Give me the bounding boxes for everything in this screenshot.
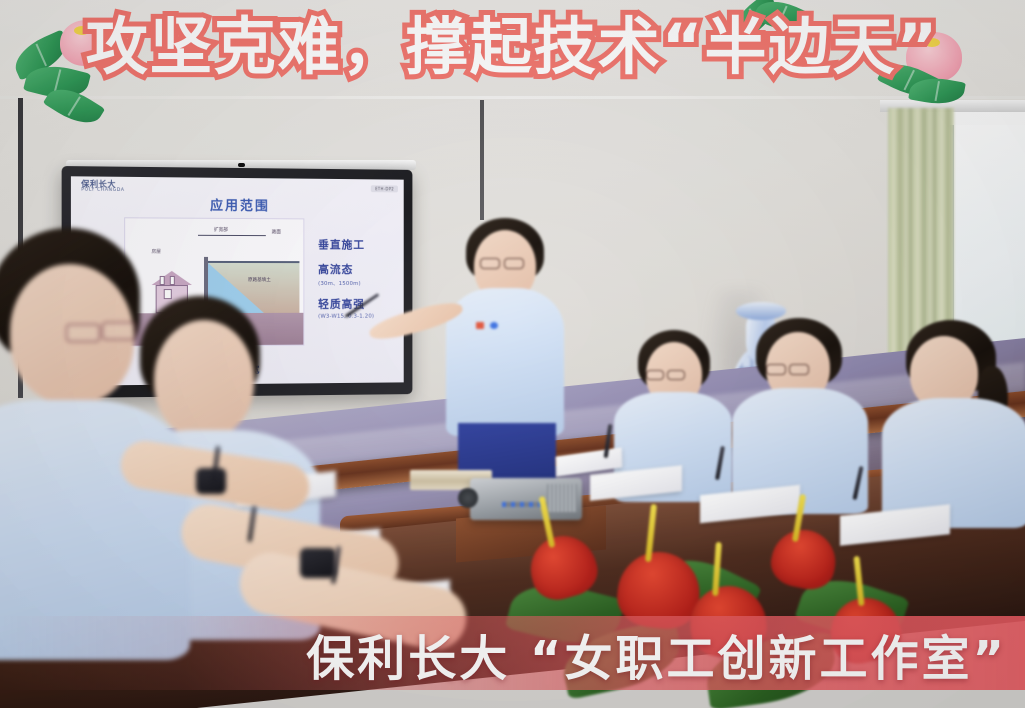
- slide-side-points: 垂直施工 高流态 (30m、1500m) 轻质高强 (W3-W15, 0.3-1…: [318, 236, 400, 328]
- side-point-2-label: 轻质高强: [318, 296, 400, 312]
- glasses-right-lens: [504, 258, 524, 269]
- diagram-label-original-fill: 原路基填土: [248, 277, 271, 283]
- display-camera-icon: [238, 163, 245, 167]
- projector-lens-icon: [458, 488, 478, 508]
- poster-caption: 保利长大 “女职工创新工作室”: [306, 634, 1007, 684]
- side-point-0-label: 垂直施工: [318, 236, 400, 252]
- anthurium-spadix: [539, 496, 556, 548]
- glasses-right-lens: [789, 364, 809, 375]
- slide-logo: 保利长大 POLY CHANGDA: [81, 180, 124, 194]
- diagram-label-widening: 扩宽部: [214, 227, 228, 233]
- glasses-right-lens: [667, 370, 685, 380]
- glasses-left-lens: [766, 364, 786, 375]
- diagram-dimension-line: [198, 235, 266, 236]
- wristwatch-black: [300, 548, 336, 578]
- poster-image: 保利长大 POLY CHANGDA ETH-DP2 应用范围 地: [0, 0, 1025, 708]
- poster-headline: 攻坚克难，撑起技术“半边天”: [0, 16, 1025, 78]
- glasses-left-lens: [646, 370, 664, 380]
- slide-badge: ETH-DP2: [371, 185, 398, 192]
- uniform-shirt: [446, 288, 564, 436]
- uniform-badge-red: [476, 322, 484, 329]
- wall-seam-center: [480, 100, 484, 220]
- presenter: [440, 218, 570, 488]
- glasses-left-lens: [480, 258, 500, 269]
- uniform-badge-blue: [490, 322, 498, 329]
- side-point-1-label: 高流态: [318, 261, 400, 277]
- attendee-left-1: [0, 228, 200, 648]
- side-point-1-sub: (30m、1500m): [318, 279, 400, 287]
- wristwatch-silver: [196, 468, 226, 494]
- slide-title: 应用范围: [71, 194, 404, 216]
- glasses-right-lens: [102, 322, 136, 340]
- diagram-label-roadway: 路面: [272, 229, 281, 235]
- glasses-left-lens: [66, 324, 100, 342]
